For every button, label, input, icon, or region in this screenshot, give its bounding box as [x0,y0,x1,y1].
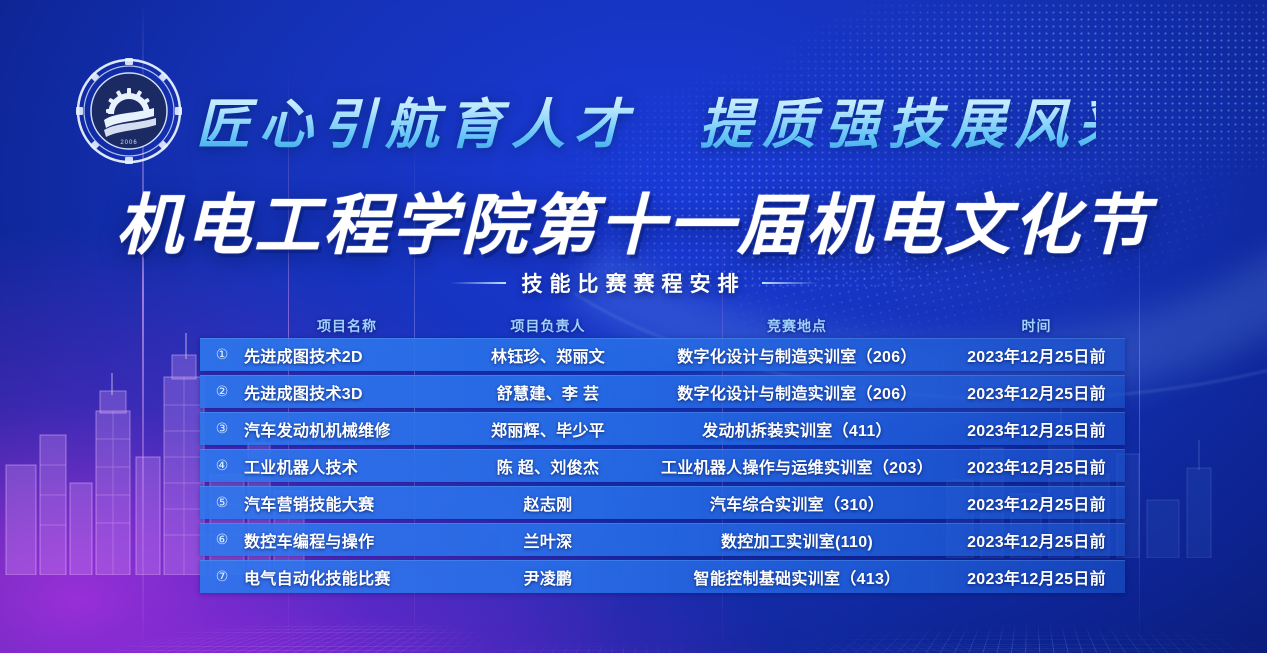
table-row[interactable]: ① 先进成图技术2D 林钰珍、郑丽文 数字化设计与制造实训室（206） 2023… [200,338,1125,371]
row-leader: 郑丽辉、毕少平 [450,417,646,441]
table-row[interactable]: ④ 工业机器人技术 陈 超、刘俊杰 工业机器人操作与运维实训室（203） 202… [200,449,1125,482]
table-row[interactable]: ③ 汽车发动机机械维修 郑丽辉、毕少平 发动机拆装实训室（411） 2023年1… [200,412,1125,445]
page-title: 机电工程学院第十一届机电文化节 [0,172,1267,268]
column-header-leader: 项目负责人 [450,316,646,336]
mesh-terrain-left [0,603,1267,653]
row-place: 数字化设计与制造实训室（206） [646,380,948,404]
row-place: 工业机器人操作与运维实训室（203） [646,454,948,478]
row-time: 2023年12月25日前 [948,565,1125,589]
row-time: 2023年12月25日前 [948,454,1125,478]
subtitle-rule-right [762,282,818,284]
row-index: ⑦ [200,568,244,585]
row-place: 数控加工实训室(110) [646,528,948,552]
row-time: 2023年12月25日前 [948,528,1125,552]
subtitle-text: 技能比赛赛程安排 [522,268,746,298]
row-name: 汽车营销技能大赛 [244,491,450,515]
row-place: 智能控制基础实训室（413） [646,565,948,589]
row-name: 汽车发动机机械维修 [244,417,450,441]
row-leader: 兰叶深 [450,528,646,552]
row-place: 发动机拆装实训室（411） [646,417,948,441]
row-time: 2023年12月25日前 [948,380,1125,404]
row-index: ① [200,346,244,363]
row-name: 先进成图技术2D [244,343,450,367]
school-emblem-logo: 2006 [76,58,182,164]
slogan-left: 匠心引航育人才 [196,80,637,159]
subtitle-group: 技能比赛赛程安排 [0,268,1267,298]
row-leader: 陈 超、刘俊杰 [450,454,646,478]
column-header-name: 项目名称 [244,316,450,336]
row-name: 数控车编程与操作 [244,528,450,552]
row-place: 数字化设计与制造实训室（206） [646,343,948,367]
slogan-right: 提质强技展风采 [699,80,1140,159]
table-row[interactable]: ② 先进成图技术3D 舒慧建、李 芸 数字化设计与制造实训室（206） 2023… [200,375,1125,408]
table-header-row: 项目名称 项目负责人 竞赛地点 时间 [200,313,1125,338]
row-leader: 尹凌鹏 [450,565,646,589]
row-name: 电气自动化技能比赛 [244,565,450,589]
row-index: ⑥ [200,531,244,548]
row-index: ④ [200,457,244,474]
row-name: 先进成图技术3D [244,380,450,404]
row-place: 汽车综合实训室（310） [646,491,948,515]
row-leader: 林钰珍、郑丽文 [450,343,646,367]
emblem-year: 2006 [120,140,137,146]
table-row[interactable]: ⑦ 电气自动化技能比赛 尹凌鹏 智能控制基础实训室（413） 2023年12月2… [200,560,1125,593]
row-time: 2023年12月25日前 [948,343,1125,367]
schedule-table: 项目名称 项目负责人 竞赛地点 时间 ① 先进成图技术2D 林钰珍、郑丽文 数字… [200,313,1125,597]
subtitle-rule-left [450,282,506,284]
column-header-time: 时间 [948,316,1125,336]
row-name: 工业机器人技术 [244,454,450,478]
table-row[interactable]: ⑥ 数控车编程与操作 兰叶深 数控加工实训室(110) 2023年12月25日前 [200,523,1125,556]
poster-canvas: 2006 匠心引航育人才 提质强技展风采 机电工程学院第十一届机电文化节 技能比… [0,0,1267,653]
row-index: ⑤ [200,494,244,511]
row-time: 2023年12月25日前 [948,491,1125,515]
row-time: 2023年12月25日前 [948,417,1125,441]
row-leader: 舒慧建、李 芸 [450,380,646,404]
row-index: ③ [200,420,244,437]
table-row[interactable]: ⑤ 汽车营销技能大赛 赵志刚 汽车综合实训室（310） 2023年12月25日前 [200,486,1125,519]
row-index: ② [200,383,244,400]
mesh-terrain-right [735,607,1267,653]
column-header-place: 竞赛地点 [646,316,948,336]
calligraphy-slogan: 匠心引航育人才 提质强技展风采 [196,78,1096,160]
row-leader: 赵志刚 [450,491,646,515]
